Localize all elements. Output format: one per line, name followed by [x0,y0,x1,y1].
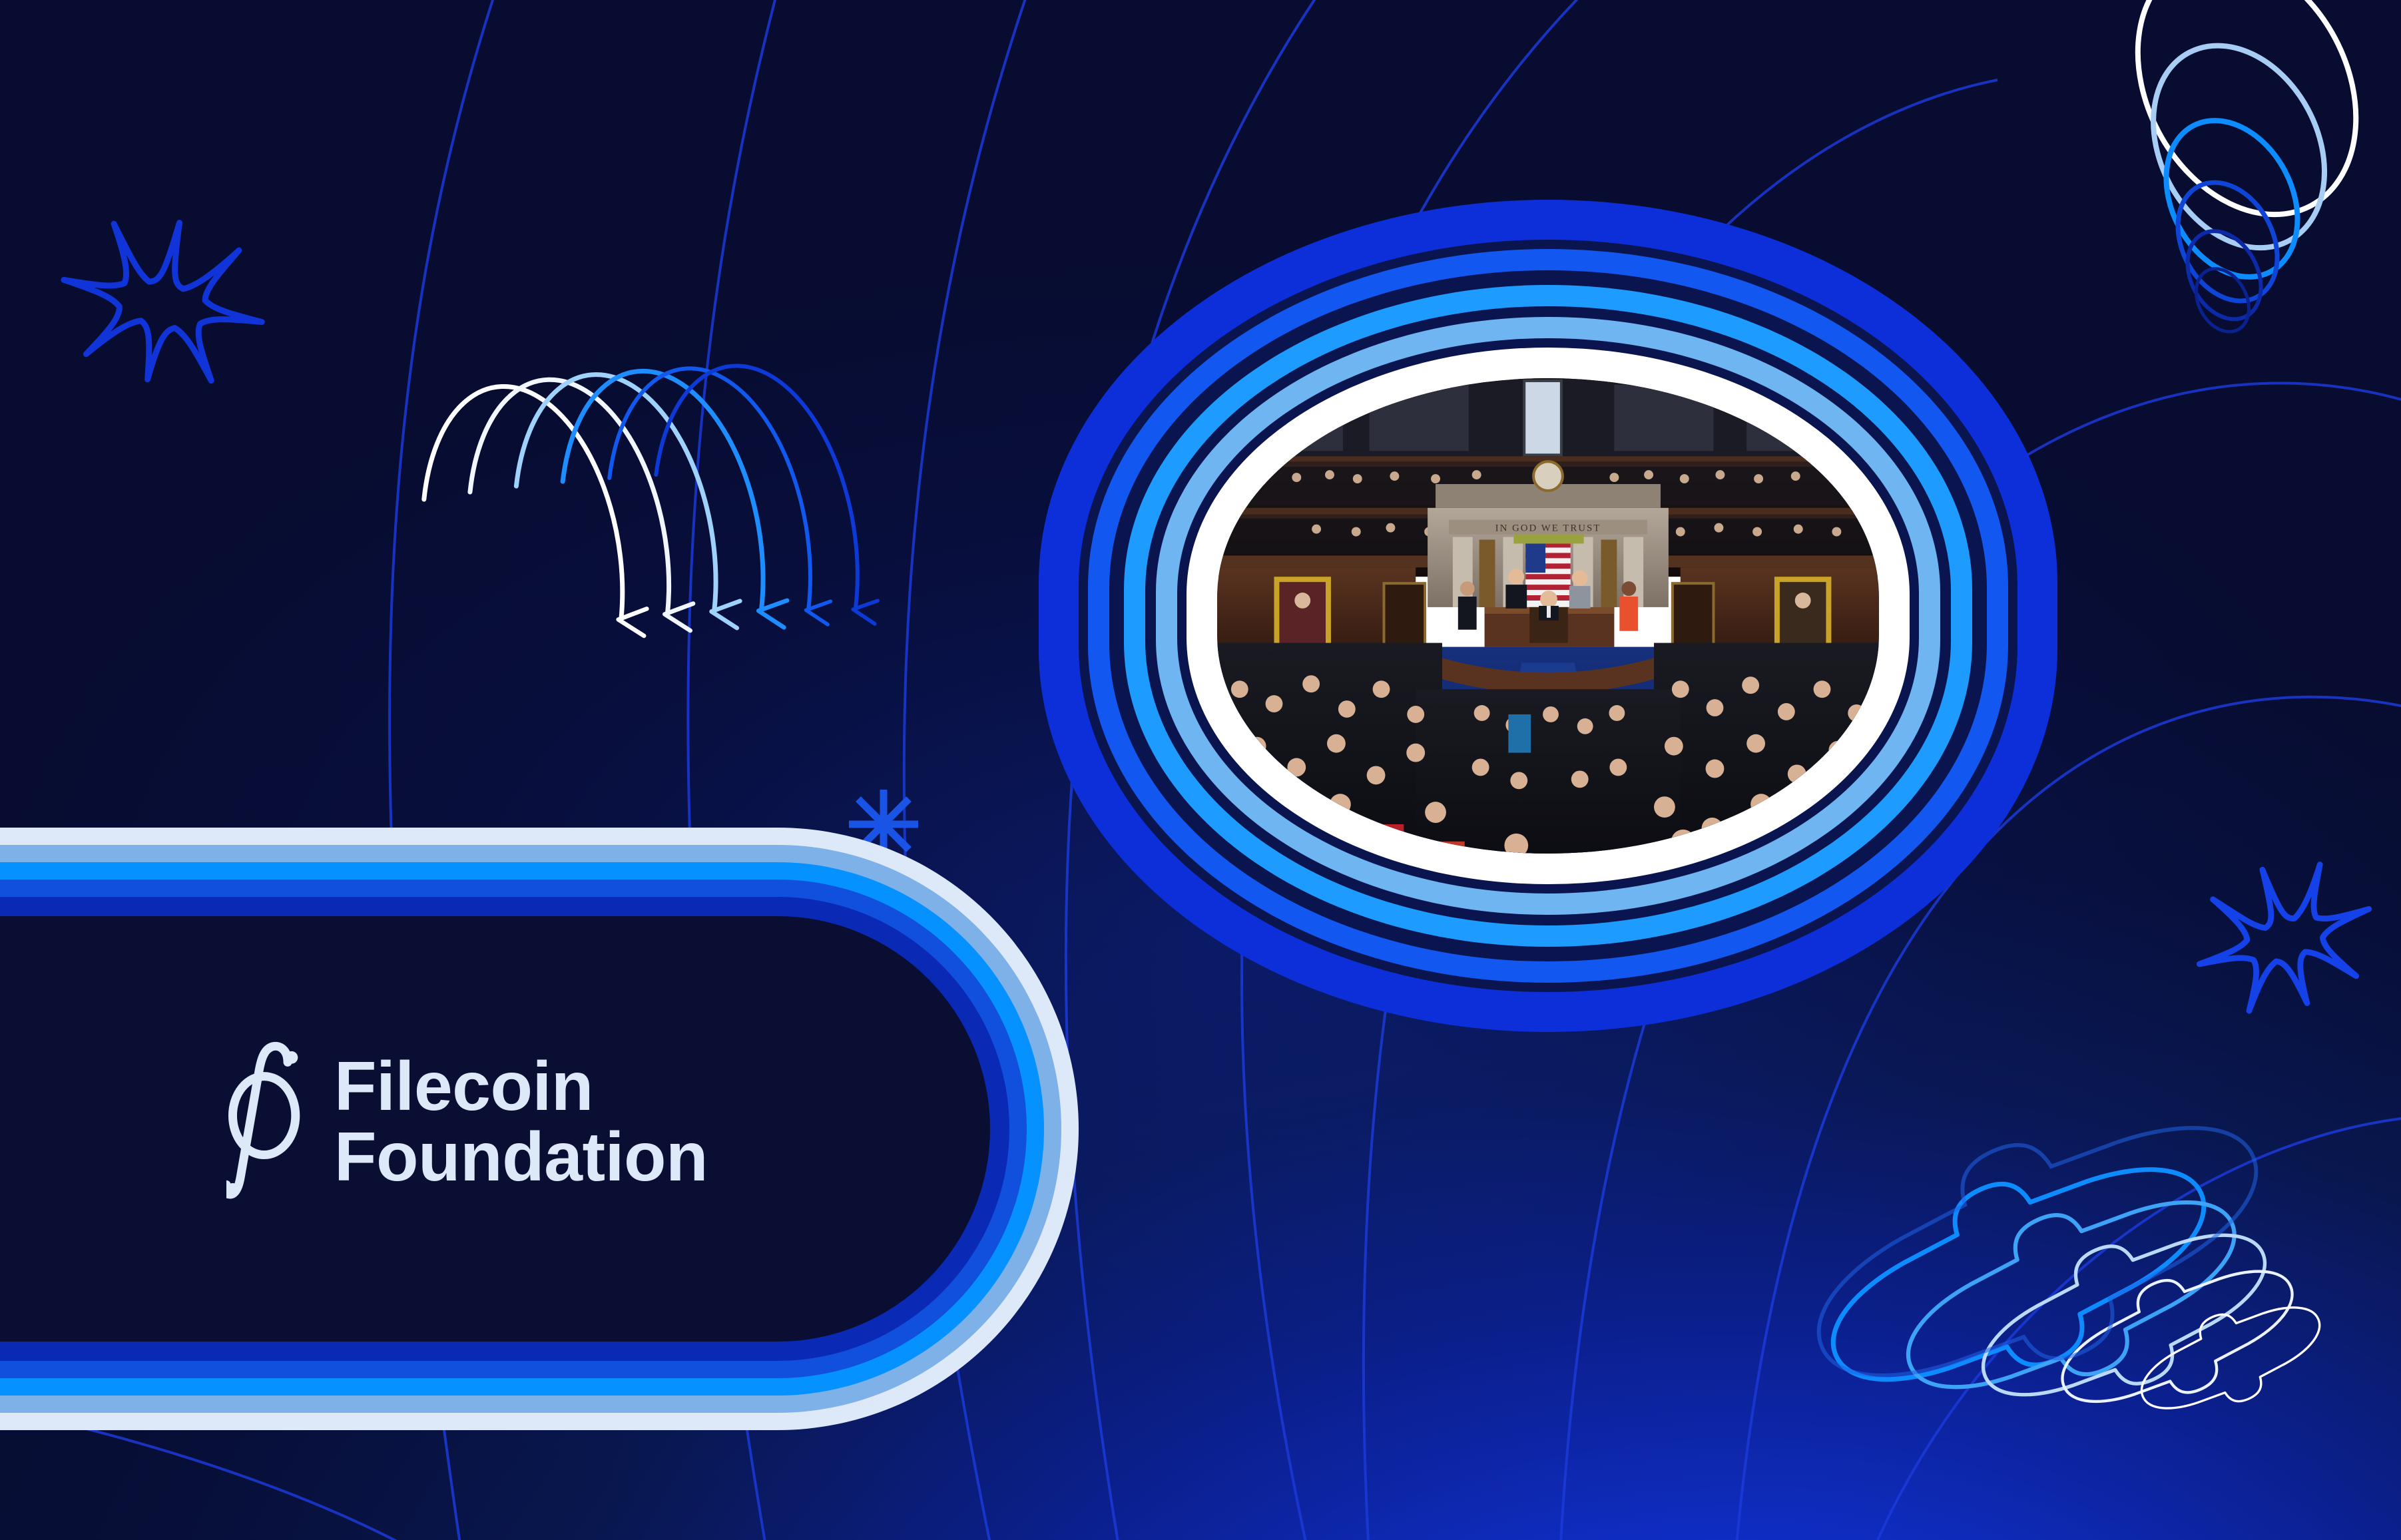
organic-star-sparkle-icon [2178,842,2391,1031]
brand-name-line2: Foundation [334,1122,708,1192]
brand-name: Filecoin Foundation [334,1051,708,1192]
poster-canvas: IN GOD WE TRUST [0,0,2401,1540]
organic-star-sparkle-icon [47,202,278,400]
filecoin-f-glyph-icon [226,1039,305,1205]
brand-name-line1: Filecoin [334,1048,593,1125]
brand-lockup: Filecoin Foundation [226,1039,708,1205]
hero-oval-frame: IN GOD WE TRUST [1039,200,2057,1032]
congress-chamber-illustration: IN GOD WE TRUST [1217,378,1879,854]
svg-text:IN GOD WE TRUST: IN GOD WE TRUST [1495,523,1601,534]
hero-photo: IN GOD WE TRUST [1217,378,1879,854]
